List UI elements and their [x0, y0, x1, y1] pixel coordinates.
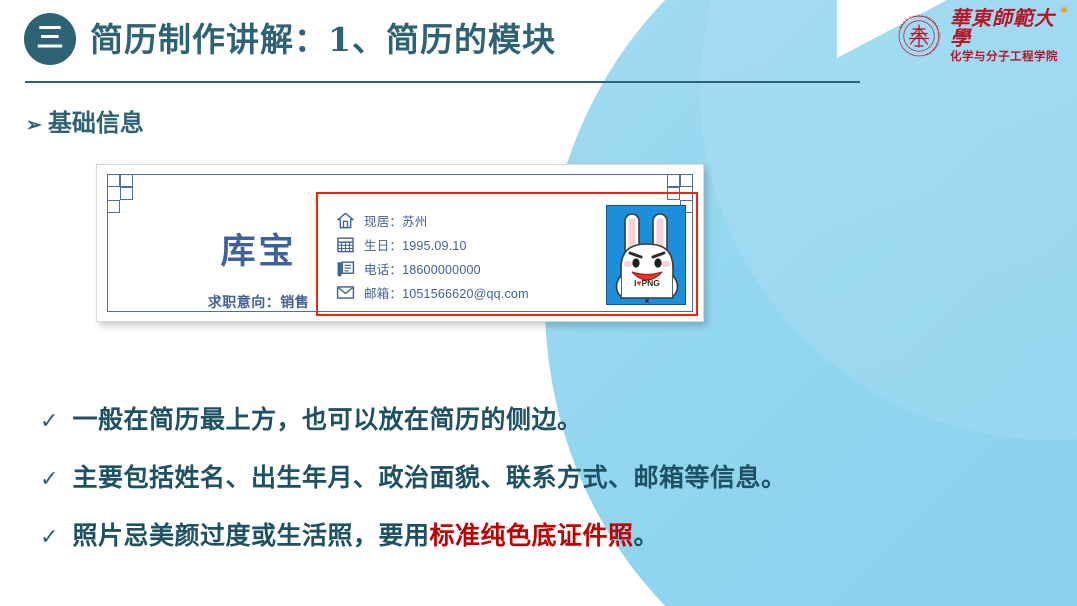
check-icon: ✓: [40, 411, 58, 433]
bullet-text-3: 照片忌美颜过度或生活照，要用标准纯色底证件照。: [72, 516, 659, 552]
slide-canvas: 三 简历制作讲解：1、简历的模块 EAST CHINA NORMAL UNIVE…: [0, 0, 1077, 606]
ecnu-seal-icon: EAST CHINA NORMAL UNIVERSITY: [894, 11, 944, 61]
list-item: 电话：18600000000: [336, 258, 529, 279]
title-underline-rule: [25, 81, 860, 83]
svg-text:I♥PNG: I♥PNG: [634, 278, 660, 288]
bullet-list: ✓ 一般在简历最上方，也可以放在简历的侧边。 ✓ 主要包括姓名、出生年月、政治面…: [40, 400, 786, 574]
page-title: 简历制作讲解：1、简历的模块: [90, 13, 556, 61]
list-item: 生日：1995.09.10: [336, 234, 529, 255]
sub-heading: ➢基础信息: [26, 103, 144, 138]
ecnu-logo: EAST CHINA NORMAL UNIVERSITY 華東師範大學 化学与分…: [894, 8, 1069, 64]
info-home-text: 现居：苏州: [364, 211, 428, 230]
check-icon: ✓: [40, 469, 58, 491]
info-email-text: 邮箱：1051566620@qq.com: [364, 283, 529, 302]
phone-icon: [336, 259, 355, 278]
list-item: 邮箱：1051566620@qq.com: [336, 282, 529, 303]
envelope-icon: [336, 283, 355, 302]
section-number-badge: 三: [24, 13, 76, 65]
info-birthday-text: 生日：1995.09.10: [364, 235, 467, 254]
card-inner-frame: 库宝 求职意向：销售 现居：苏州 生日：1995.09: [107, 174, 693, 312]
resume-info-list: 现居：苏州 生日：1995.09.10 电话：18600000000: [336, 210, 529, 306]
ecnu-university-name: 華東師範大學: [950, 8, 1069, 48]
bullet-highlight: 标准纯色底证件照: [429, 521, 633, 550]
calendar-icon: [336, 235, 355, 254]
list-item: 现居：苏州: [336, 210, 529, 231]
list-item: ✓ 一般在简历最上方，也可以放在简历的侧边。: [40, 400, 786, 436]
sub-heading-label: 基础信息: [48, 108, 144, 137]
card-corner-ornament-top-left: [107, 174, 153, 214]
check-icon: ✓: [40, 527, 58, 549]
ecnu-college-name: 化学与分子工程学院: [950, 52, 1069, 64]
bullet-text-2: 主要包括姓名、出生年月、政治面貌、联系方式、邮箱等信息。: [72, 458, 786, 494]
list-item: ✓ 照片忌美颜过度或生活照，要用标准纯色底证件照。: [40, 516, 786, 552]
ecnu-logo-text: 華東師範大學 化学与分子工程学院: [950, 8, 1069, 64]
info-phone-text: 电话：18600000000: [364, 259, 481, 278]
list-item: ✓ 主要包括姓名、出生年月、政治面貌、联系方式、邮箱等信息。: [40, 458, 786, 494]
resume-sample-card: 库宝 求职意向：销售 现居：苏州 生日：1995.09: [96, 164, 704, 322]
home-icon: [336, 211, 355, 230]
avatar: I♥PNG ✖: [606, 205, 686, 305]
bullet-text-1: 一般在简历最上方，也可以放在简历的侧边。: [72, 400, 582, 436]
highlight-red-box: 现居：苏州 生日：1995.09.10 电话：18600000000: [316, 192, 698, 316]
svg-text:✖: ✖: [644, 298, 649, 305]
arrow-bullet-icon: ➢: [26, 114, 42, 136]
